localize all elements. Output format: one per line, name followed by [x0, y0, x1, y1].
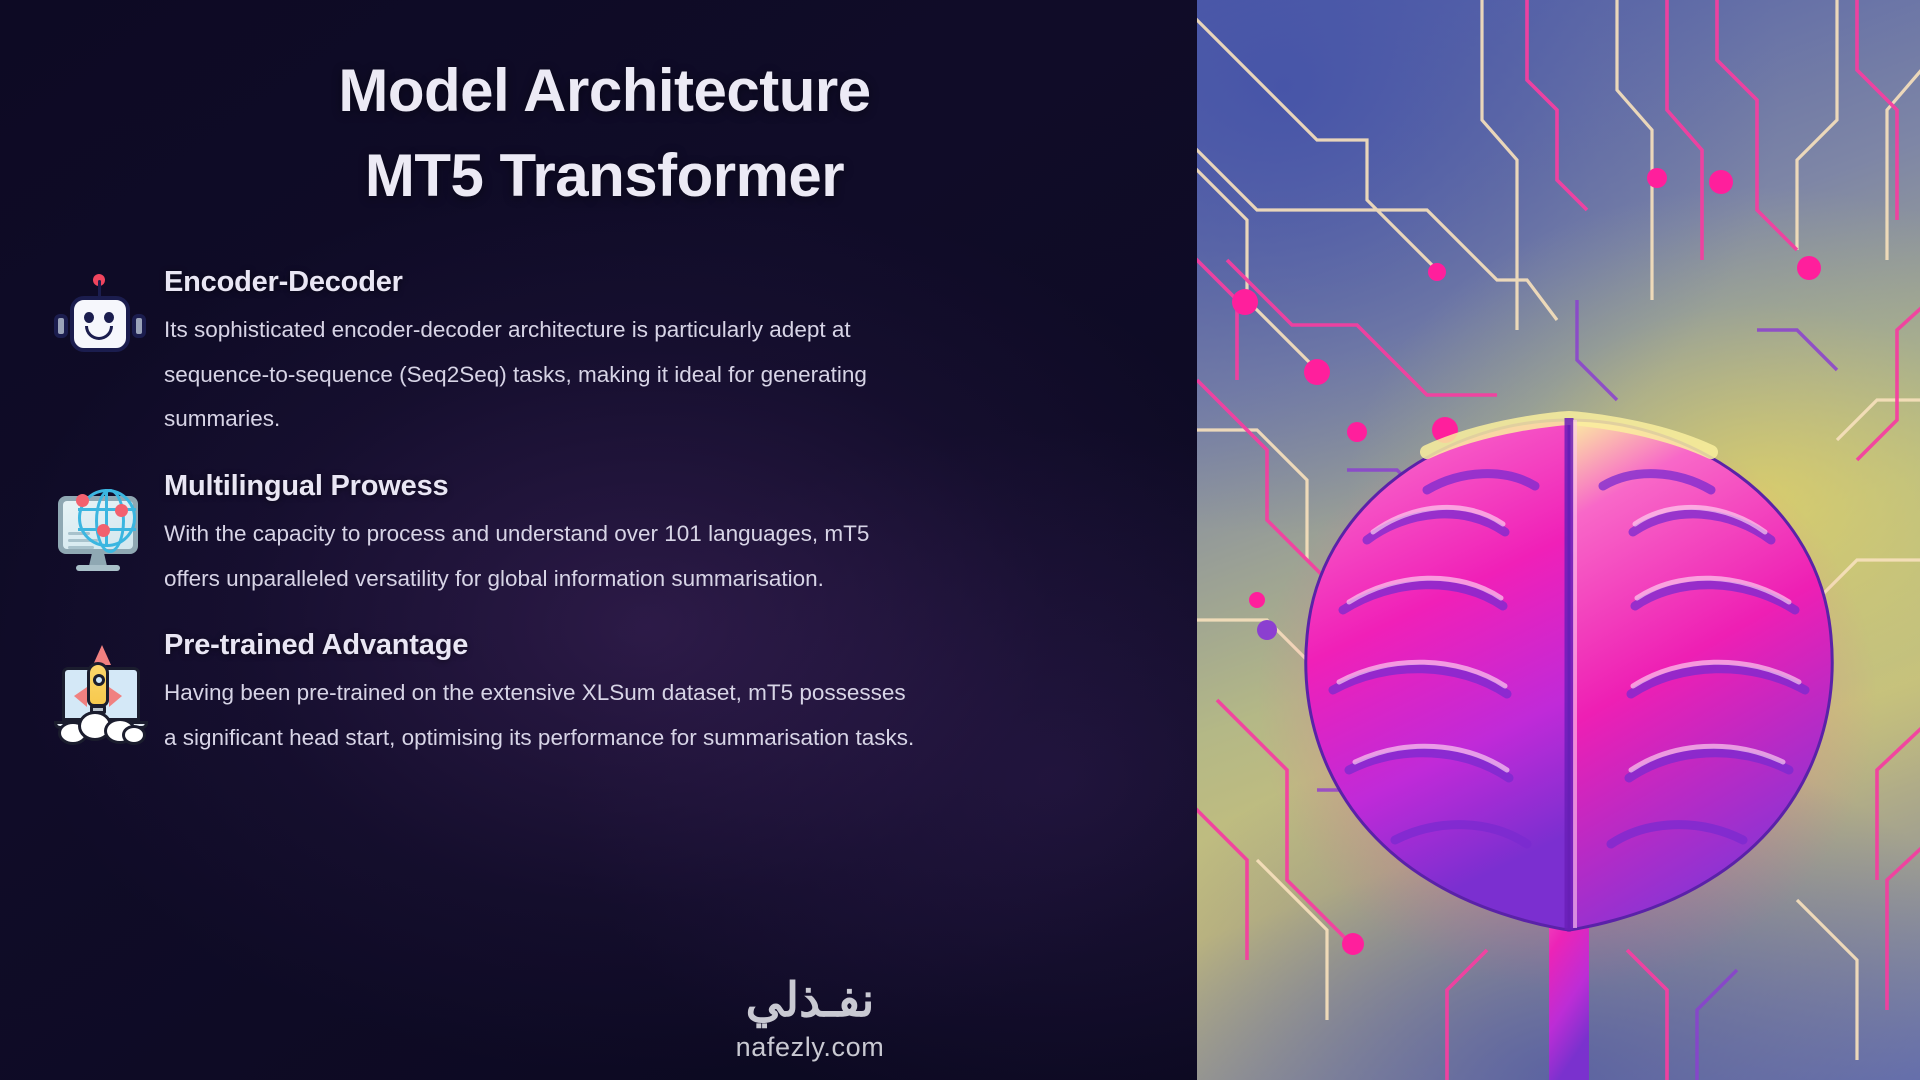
- robot-ear-left-icon: [54, 314, 68, 338]
- robot-ear-right-icon: [132, 314, 146, 338]
- rocket-fin-right-icon: [109, 687, 122, 707]
- globe-node-dot-icon: [97, 524, 110, 537]
- rocket-smoke-cloud-icon: [58, 709, 144, 739]
- feature-heading: Multilingual Prowess: [164, 470, 924, 503]
- watermark-site-url: nafezly.com: [690, 1032, 930, 1063]
- feature-body: With the capacity to process and underst…: [164, 512, 924, 601]
- title-block: Model Architecture MT5 Transformer: [0, 0, 1197, 218]
- rocket-porthole-icon: [93, 674, 105, 686]
- feature-item-encoder-decoder: Encoder-Decoder Its sophisticated encode…: [52, 262, 1157, 442]
- feature-list: Encoder-Decoder Its sophisticated encode…: [0, 262, 1197, 760]
- circuit-brain-artwork: [1197, 0, 1920, 1080]
- feature-item-pre-trained-advantage: Pre-trained Advantage Having been pre-tr…: [52, 625, 1157, 760]
- content-panel: Model Architecture MT5 Transformer Encod…: [0, 0, 1197, 1080]
- monitor-neck-icon: [89, 552, 107, 566]
- monitor-base-icon: [76, 565, 120, 571]
- robot-icon: [52, 276, 148, 372]
- feature-body: Having been pre-trained on the extensive…: [164, 671, 924, 760]
- page-title-line-2: MT5 Transformer: [12, 133, 1197, 218]
- globe-node-dot-icon: [115, 504, 128, 517]
- robot-head-icon: [70, 296, 130, 352]
- watermark-arabic-logo: نفـذلي: [690, 975, 930, 1024]
- feature-text: Pre-trained Advantage Having been pre-tr…: [164, 625, 924, 760]
- page-title-line-1: Model Architecture: [12, 48, 1197, 133]
- feature-text: Encoder-Decoder Its sophisticated encode…: [164, 262, 924, 442]
- feature-text: Multilingual Prowess With the capacity t…: [164, 466, 924, 601]
- globe-monitor-icon: [52, 480, 148, 576]
- feature-item-multilingual-prowess: Multilingual Prowess With the capacity t…: [52, 466, 1157, 601]
- slide-root: Model Architecture MT5 Transformer Encod…: [0, 0, 1920, 1080]
- feature-heading: Pre-trained Advantage: [164, 629, 924, 662]
- ai-brain-circuit-illustration: [1197, 0, 1920, 1080]
- feature-body: Its sophisticated encoder-decoder archit…: [164, 308, 924, 442]
- rocket-fin-left-icon: [74, 687, 87, 707]
- rocket-launch-icon: [52, 639, 148, 735]
- watermark: نفـذلي nafezly.com: [690, 975, 930, 1063]
- feature-heading: Encoder-Decoder: [164, 266, 924, 299]
- globe-node-dot-icon: [76, 494, 89, 507]
